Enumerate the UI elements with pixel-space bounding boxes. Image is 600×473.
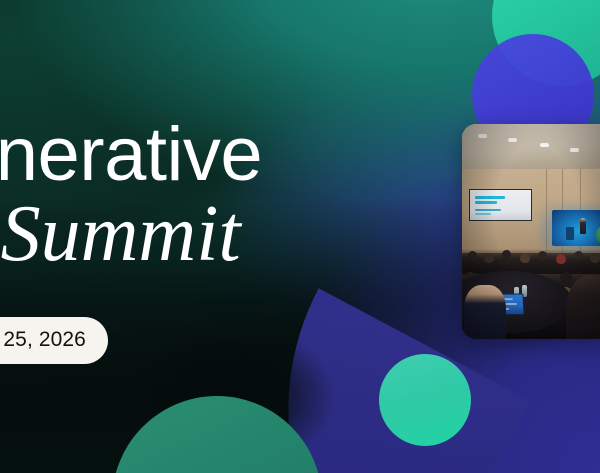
ceiling-light-icon <box>478 134 487 138</box>
event-date-badge: ary 25, 2026 <box>0 317 108 364</box>
photo-scene <box>462 124 600 339</box>
audience-head <box>574 251 583 260</box>
audience-head <box>556 254 566 264</box>
presentation-screen <box>469 189 532 221</box>
audience-head <box>560 272 572 284</box>
audience-head <box>538 251 547 260</box>
page-title-line2: I Summit <box>0 194 424 274</box>
audience-head <box>502 250 511 259</box>
slide-text-line <box>475 196 505 199</box>
stage-backdrop <box>552 210 600 246</box>
audience-head <box>468 251 477 260</box>
slide-text-line <box>475 213 491 215</box>
slide-text-line <box>475 201 497 204</box>
slide-text-line <box>475 209 501 211</box>
audience-head <box>520 253 530 263</box>
foreground-attendee <box>464 285 506 339</box>
conference-photo <box>462 124 600 339</box>
audience-head <box>484 253 494 263</box>
audience-head <box>590 253 600 263</box>
event-banner: enerative I Summit ary 25, 2026 <box>0 0 600 473</box>
ceiling-light-icon <box>570 148 579 152</box>
podium <box>566 227 574 240</box>
ceiling-light-icon <box>540 143 549 147</box>
speaker-figure <box>580 218 586 234</box>
headline-block: enerative I Summit <box>0 118 424 274</box>
page-title-line1: enerative <box>0 118 424 192</box>
teal-circle-small-icon <box>379 354 471 446</box>
ceiling-light-icon <box>508 138 517 142</box>
